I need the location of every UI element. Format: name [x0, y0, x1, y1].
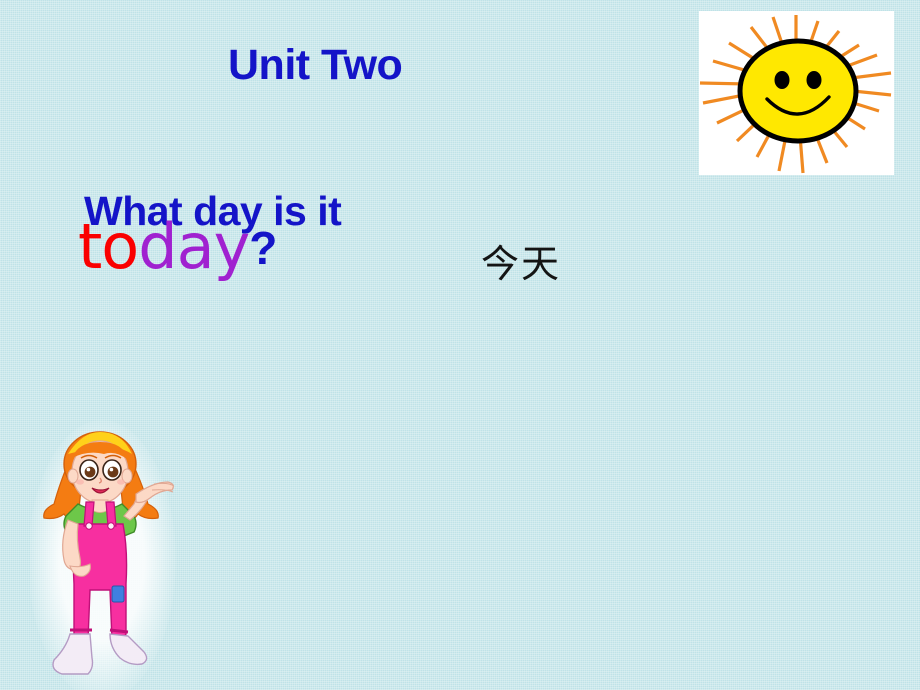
sun-left-eye	[775, 71, 790, 89]
question-title-line-2: today?	[78, 216, 276, 278]
girl-left-arm	[63, 520, 81, 570]
girl-right-blush	[117, 479, 125, 484]
today-text-red-part: to	[78, 210, 138, 283]
today-text-purple-part: day	[138, 210, 249, 283]
sun-right-eye	[807, 71, 822, 89]
smiling-sun-icon	[699, 11, 894, 175]
girl-right-eye-glint	[110, 468, 114, 472]
chinese-translation: 今天	[481, 245, 561, 283]
girl-overall-button-left	[86, 523, 92, 529]
girl-left-blush	[76, 479, 84, 484]
slide-canvas: Unit Two What day is it today? 今天	[0, 0, 920, 690]
girl-right-pupil	[108, 467, 119, 478]
cartoon-girl-clipart	[30, 420, 180, 690]
sun-face	[740, 41, 856, 141]
girl-left-pupil	[85, 467, 96, 478]
sun-picture-frame	[699, 11, 894, 175]
girl-left-eye-glint	[87, 468, 91, 472]
question-mark: ?	[249, 222, 276, 274]
girl-knee-patch	[112, 586, 124, 602]
girl-overall-button-right	[108, 523, 114, 529]
